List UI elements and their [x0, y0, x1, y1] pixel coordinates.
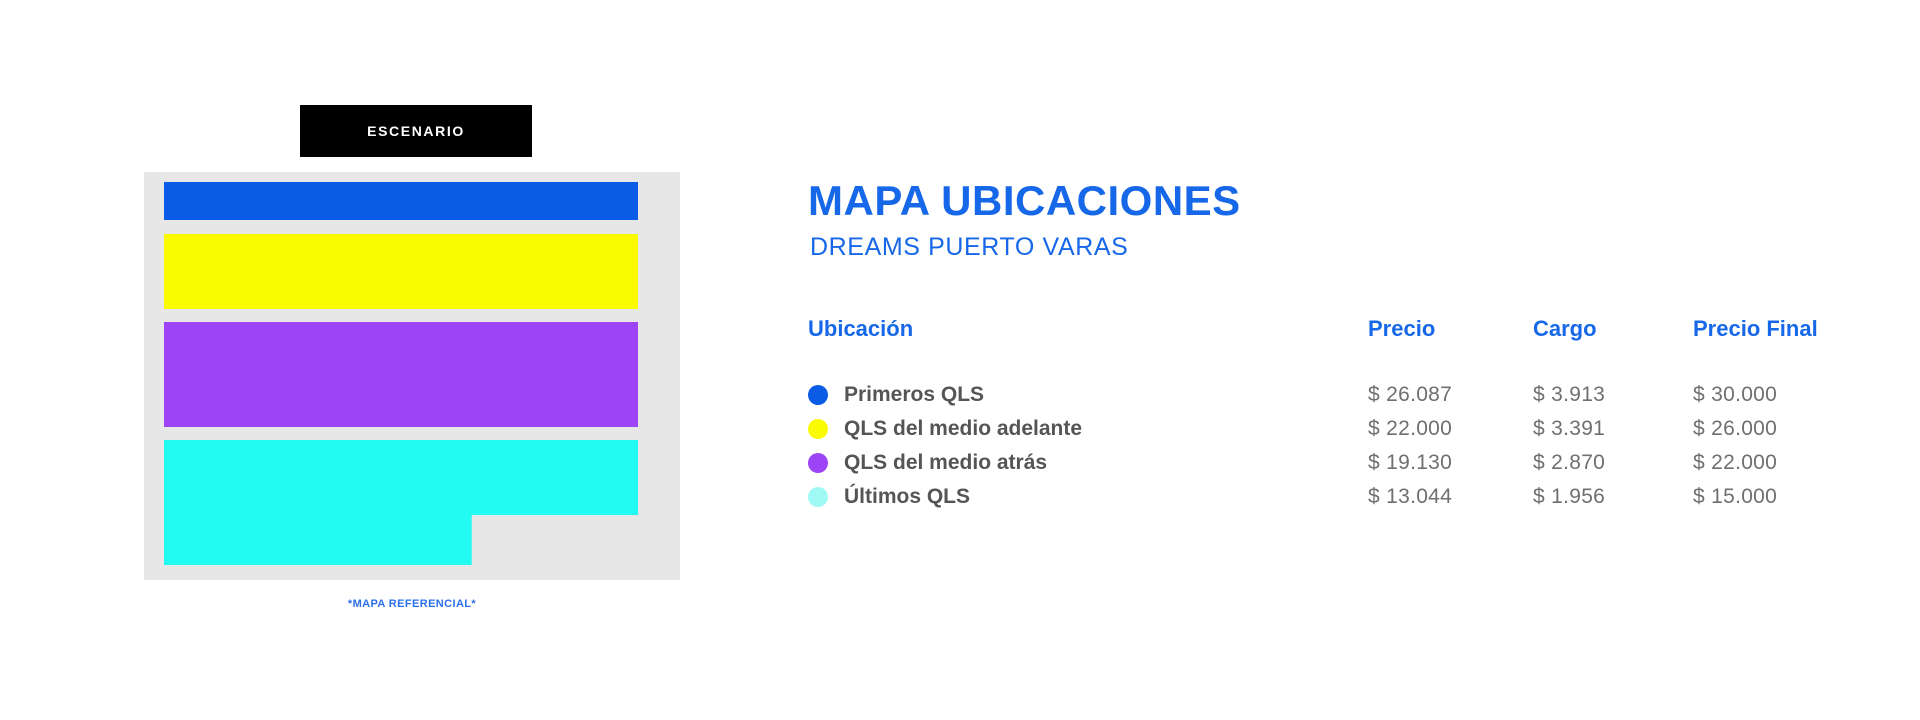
- seat-block-medio-atras-left[interactable]: [164, 322, 388, 427]
- stage-banner: ESCENARIO: [300, 105, 532, 157]
- zone-label: Últimos QLS: [844, 485, 970, 509]
- table-row[interactable]: Últimos QLS $ 13.044 $ 1.956 $ 15.000: [808, 480, 1868, 514]
- cell-cargo: $ 2.870: [1533, 446, 1693, 480]
- cell-ubicacion: Últimos QLS: [808, 480, 1368, 514]
- cell-precio: $ 19.130: [1368, 446, 1533, 480]
- cell-precio-final: $ 15.000: [1693, 480, 1868, 514]
- table-row[interactable]: QLS del medio adelante $ 22.000 $ 3.391 …: [808, 412, 1868, 446]
- legend-dot-icon: [808, 487, 828, 507]
- page-subtitle: DREAMS PUERTO VARAS: [810, 235, 1128, 260]
- cell-precio: $ 26.087: [1368, 378, 1533, 412]
- legend-dot-icon: [808, 385, 828, 405]
- seat-block-primeros-qls-left[interactable]: [164, 182, 388, 220]
- legend-dot-icon: [808, 453, 828, 473]
- seat-block-medio-atras-right[interactable]: [386, 322, 638, 427]
- map-footnote: *MAPA REFERENCIAL*: [144, 598, 680, 610]
- cell-ubicacion: QLS del medio atrás: [808, 446, 1368, 480]
- seat-map-container: [144, 172, 680, 580]
- cell-precio: $ 13.044: [1368, 480, 1533, 514]
- cell-cargo: $ 1.956: [1533, 480, 1693, 514]
- cell-cargo: $ 3.391: [1533, 412, 1693, 446]
- seat-block-ultimos-qls-left[interactable]: [164, 440, 388, 565]
- cell-cargo: $ 3.913: [1533, 378, 1693, 412]
- column-header-precio-final: Precio Final: [1693, 316, 1868, 378]
- seat-map-panel: ESCENARIO *MAPA REFERENCIAL*: [0, 0, 700, 720]
- table-row[interactable]: QLS del medio atrás $ 19.130 $ 2.870 $ 2…: [808, 446, 1868, 480]
- zone-label: QLS del medio atrás: [844, 451, 1047, 475]
- column-header-cargo: Cargo: [1533, 316, 1693, 378]
- seat-block-ultimos-qls-right[interactable]: [386, 440, 638, 565]
- table-body: Primeros QLS $ 26.087 $ 3.913 $ 30.000 Q…: [808, 378, 1868, 514]
- zone-label: QLS del medio adelante: [844, 417, 1082, 441]
- seating-map-page: ESCENARIO *MAPA REFERENCIAL* MAPA UBICAC…: [0, 0, 1920, 720]
- page-title: MAPA UBICACIONES: [808, 180, 1241, 222]
- cell-precio: $ 22.000: [1368, 412, 1533, 446]
- legend-dot-icon: [808, 419, 828, 439]
- price-table-wrapper: Ubicación Precio Cargo Precio Final Prim…: [808, 316, 1868, 514]
- seat-block-primeros-qls-right[interactable]: [386, 182, 638, 220]
- seat-block-medio-adelante-left[interactable]: [164, 234, 388, 309]
- column-header-ubicacion: Ubicación: [808, 316, 1368, 378]
- cell-ubicacion: QLS del medio adelante: [808, 412, 1368, 446]
- info-panel: MAPA UBICACIONES DREAMS PUERTO VARAS Ubi…: [808, 0, 1920, 720]
- table-row[interactable]: Primeros QLS $ 26.087 $ 3.913 $ 30.000: [808, 378, 1868, 412]
- zone-label: Primeros QLS: [844, 383, 984, 407]
- cell-ubicacion: Primeros QLS: [808, 378, 1368, 412]
- table-header-row: Ubicación Precio Cargo Precio Final: [808, 316, 1868, 378]
- cell-precio-final: $ 22.000: [1693, 446, 1868, 480]
- cell-precio-final: $ 30.000: [1693, 378, 1868, 412]
- price-table: Ubicación Precio Cargo Precio Final Prim…: [808, 316, 1868, 514]
- seat-block-medio-adelante-right[interactable]: [386, 234, 638, 309]
- cell-precio-final: $ 26.000: [1693, 412, 1868, 446]
- column-header-precio: Precio: [1368, 316, 1533, 378]
